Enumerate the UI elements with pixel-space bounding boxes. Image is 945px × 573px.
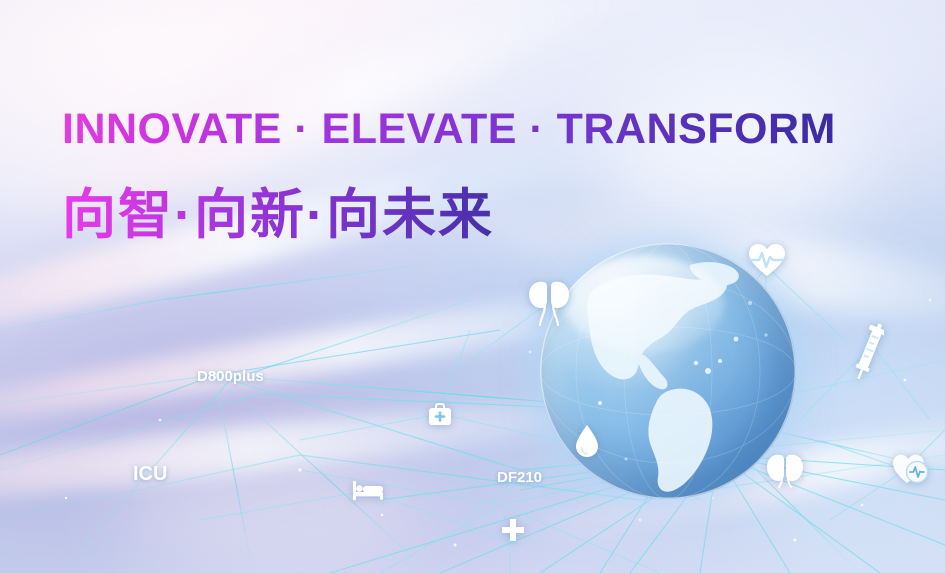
- heart-pulse-icon: [748, 243, 786, 277]
- hospital-bed-icon: [352, 479, 384, 501]
- kidneys-icon: [765, 452, 805, 488]
- blood-drop-icon: [574, 424, 600, 458]
- medical-kit-icon: [428, 402, 452, 426]
- page-title: INNOVATE · ELEVATE · TRANSFORM: [62, 105, 836, 154]
- label-d800plus: D800plus: [197, 368, 264, 385]
- syringe-icon: [854, 322, 884, 382]
- label-df210: DF210: [497, 469, 542, 486]
- heart-monitor-icon: [892, 453, 928, 485]
- hero-banner: INNOVATE · ELEVATE · TRANSFORM 向智·向新·向未来…: [0, 0, 945, 573]
- medical-cross-icon: [501, 518, 525, 542]
- earth-globe-icon: [540, 243, 796, 499]
- page-subtitle: 向智·向新·向未来: [62, 170, 494, 249]
- label-icu: ICU: [133, 463, 167, 486]
- kidneys-icon: [526, 277, 572, 327]
